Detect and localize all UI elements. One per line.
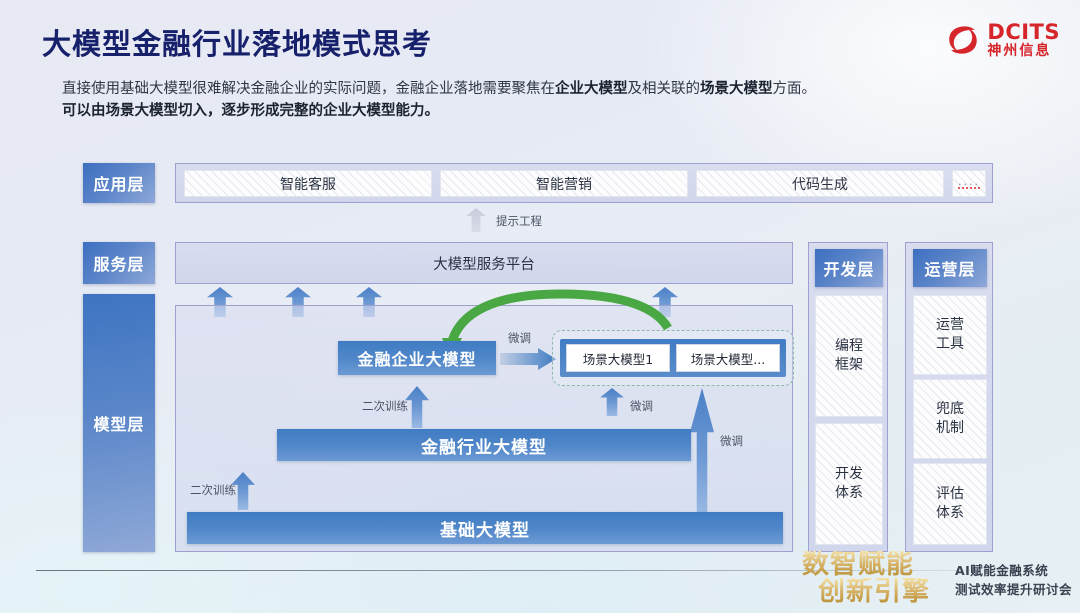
watermark-line-1: 数智赋能 — [802, 551, 930, 578]
box-foundation-model[interactable]: 基础大模型 — [187, 512, 783, 544]
note-retrain-lower: 二次训练 — [190, 482, 236, 498]
subtitle-part-1: 直接使用基础大模型很难解决金融企业的实际问题，金融企业落地需要聚焦在 — [62, 81, 555, 97]
slide-canvas: 大模型金融行业落地模式思考 直接使用基础大模型很难解决金融企业的实际问题，金融企… — [0, 0, 1080, 613]
layer-tag-model: 模型层 — [83, 294, 155, 552]
application-item-4-label: .... — [958, 178, 980, 189]
logo-brand-cn: 神州信息 — [987, 44, 1060, 58]
event-line-1: AI赋能金融系统 — [955, 561, 1072, 580]
company-logo: DCITS 神州信息 — [946, 22, 1060, 58]
dev-layer-panel: 开发层 编程 框架 开发 体系 — [808, 242, 888, 552]
event-line-2: 测试效率提升研讨会 — [955, 580, 1072, 599]
layer-tag-dev: 开发层 — [815, 249, 883, 287]
box-enterprise-model[interactable]: 金融企业大模型 — [338, 341, 496, 375]
ops-item-2[interactable]: 兜底 机制 — [913, 379, 987, 459]
page-title: 大模型金融行业落地模式思考 — [42, 21, 432, 63]
subtitle-part-3: 方面。 — [773, 81, 817, 97]
logo-brand-en: DCITS — [987, 22, 1060, 43]
application-item-1[interactable]: 智能客服 — [184, 170, 432, 197]
ops-layer-panel: 运营层 运营 工具 兜底 机制 评估 体系 — [905, 242, 993, 552]
dev-item-1[interactable]: 编程 框架 — [815, 295, 883, 417]
subtitle-emphasis-scene: 场景大模型 — [700, 81, 773, 97]
page-subtitle: 直接使用基础大模型很难解决金融企业的实际问题，金融企业落地需要聚焦在企业大模型及… — [62, 78, 942, 122]
swirl-icon — [946, 24, 980, 56]
note-retrain-upper: 二次训练 — [362, 398, 408, 414]
note-finetune-mid: 微调 — [630, 398, 653, 414]
scene-models-blue-frame: 场景大模型1 场景大模型... — [560, 339, 786, 377]
box-industry-model[interactable]: 金融行业大模型 — [277, 429, 691, 461]
prompt-engineering-arrow-icon — [466, 208, 486, 232]
ops-item-3[interactable]: 评估 体系 — [913, 463, 987, 545]
service-layer-panel: 大模型服务平台 — [175, 242, 793, 284]
application-item-2[interactable]: 智能营销 — [440, 170, 688, 197]
box-scene-model-2[interactable]: 场景大模型... — [676, 344, 780, 372]
note-prompt-engineering: 提示工程 — [496, 213, 542, 229]
subtitle-emphasis-enterprise: 企业大模型 — [555, 81, 628, 97]
application-item-3[interactable]: 代码生成 — [696, 170, 944, 197]
application-item-4[interactable]: .... — [952, 170, 986, 197]
ops-item-1[interactable]: 运营 工具 — [913, 295, 987, 375]
layer-tag-service: 服务层 — [83, 242, 155, 284]
logo-text: DCITS 神州信息 — [987, 22, 1060, 58]
layer-tag-ops: 运营层 — [913, 249, 987, 287]
finetune-right-arrow-icon — [500, 348, 558, 370]
application-layer-panel: 智能客服 智能营销 代码生成 .... — [175, 163, 993, 203]
note-finetune-right: 微调 — [720, 433, 743, 449]
subtitle-part-2: 及相关联的 — [628, 81, 701, 97]
service-platform-label: 大模型服务平台 — [433, 253, 535, 274]
event-name: AI赋能金融系统 测试效率提升研讨会 — [955, 561, 1072, 599]
box-scene-model-1[interactable]: 场景大模型1 — [566, 344, 670, 372]
note-finetune-top: 微调 — [508, 330, 531, 346]
dev-item-2[interactable]: 开发 体系 — [815, 423, 883, 545]
event-watermark: 数智赋能 创新引擎 — [802, 551, 930, 605]
watermark-line-2: 创新引擎 — [818, 578, 930, 605]
layer-tag-application: 应用层 — [83, 163, 155, 203]
subtitle-line-2: 可以由场景大模型切入，逐步形成完整的企业大模型能力。 — [62, 100, 942, 122]
